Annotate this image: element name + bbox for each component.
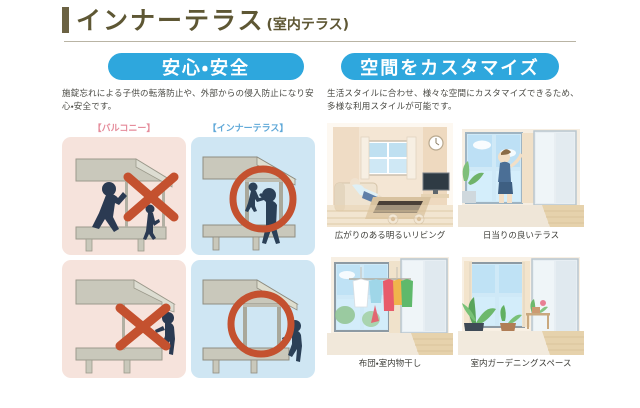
- photo-indoor-laundry: [327, 251, 453, 355]
- title-sub-text: (室内テラス): [267, 14, 350, 34]
- illustration-balcony-child-fall: [62, 137, 186, 255]
- label-balcony: 【バルコニー】: [62, 121, 186, 134]
- caption-indoor-laundry: 布団・室内物干し: [327, 357, 453, 369]
- caption-indoor-gardening: 室内ガーデニングスペース: [458, 357, 584, 369]
- photo-item-living-room: 広がりのある明るいリビング: [327, 123, 453, 241]
- section-safety: 安心・安全 施錠忘れによる子供の転落防止や、外部からの侵入防止になり安心・安全で…: [62, 53, 315, 378]
- photo-living-room: [327, 123, 453, 227]
- illustration-inner-terrace-intruder-blocked: [191, 260, 315, 378]
- photo-sunny-terrace: [458, 123, 584, 227]
- banner-safety: 安心・安全: [108, 53, 304, 80]
- title-divider: [64, 41, 576, 42]
- compare-label-row: 【バルコニー】 【インナーテラス】: [62, 121, 315, 134]
- cross-mark-icon: [120, 308, 166, 346]
- photo-item-indoor-laundry: 布団・室内物干し: [327, 251, 453, 369]
- customize-lead-text: 生活スタイルに合わせ、様々な空間にカスタマイズできるため、多様な利用スタイルが可…: [327, 88, 584, 114]
- person-silhouette-adult: [92, 182, 127, 232]
- illustration-inner-terrace-child-safe: [191, 137, 315, 255]
- building-structure: [76, 280, 174, 373]
- photo-item-indoor-gardening: 室内ガーデニングスペース: [458, 251, 584, 369]
- illustration-grid: [62, 137, 315, 378]
- title-main-text: インナーテラス: [76, 8, 265, 33]
- caption-sunny-terrace: 日当りの良いテラス: [458, 229, 584, 241]
- label-inner-terrace: 【インナーテラス】: [186, 121, 310, 134]
- safety-lead-text: 施錠忘れによる子供の転落防止や、外部からの侵入防止になり安心・安全です。: [62, 88, 315, 114]
- photo-indoor-gardening: [458, 251, 584, 355]
- section-customize: 空間をカスタマイズ 生活スタイルに合わせ、様々な空間にカスタマイズできるため、多…: [327, 53, 584, 369]
- caption-living-room: 広がりのある明るいリビング: [327, 229, 453, 241]
- illustration-balcony-intruder: [62, 260, 186, 378]
- title-accent-bar: [62, 7, 69, 33]
- photo-grid: 広がりのある明るいリビング: [327, 123, 584, 369]
- page-title: インナーテラス (室内テラス): [62, 8, 349, 34]
- photo-item-sunny-terrace: 日当りの良いテラス: [458, 123, 584, 241]
- banner-customize: 空間をカスタマイズ: [341, 53, 559, 80]
